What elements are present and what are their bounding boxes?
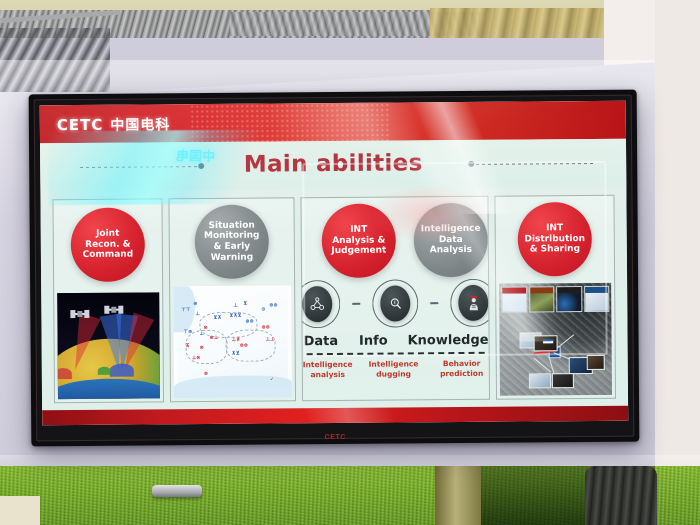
panel-joint-recon[interactable]: Joint Recon. & Command <box>52 198 164 403</box>
panel-situation-monitoring[interactable]: Situation Monitoring & Early Warning ⊤⊤ … <box>168 197 296 402</box>
dashboard-card-3 <box>556 286 582 312</box>
circle-label-joint-recon: Joint Recon. & Command <box>71 207 146 282</box>
art-satellite-earth <box>57 292 160 399</box>
olive-post <box>435 466 481 525</box>
screen-content: CETC 中国电科 Main abilities Joint Recon. & … <box>40 101 628 426</box>
dashboard-card-4 <box>584 286 610 312</box>
dashboard-node-label: ▄▄▄▄ <box>542 339 554 343</box>
map-zone-2 <box>225 329 275 361</box>
title-dot-right <box>468 161 474 167</box>
panel-int-analysis[interactable]: INT Analysis & Judgement Intelligence Da… <box>300 196 490 401</box>
cetc-logo-cn: 中国电科 <box>110 114 170 134</box>
ocean-band <box>57 378 160 399</box>
flow-link-1 <box>352 303 360 305</box>
flow-labels: Data Info Knowledge <box>303 333 489 349</box>
flow-sub-knowledge: Behavior prediction <box>434 359 488 380</box>
dashboard-thumb-4 <box>587 355 605 370</box>
flow-label-data: Data <box>303 334 340 349</box>
flow-sublabels: Intelligence analysis Intelligence duggi… <box>303 359 489 381</box>
blue-coverage-dome <box>110 364 134 377</box>
tv-brand-logo: CETC <box>325 434 347 441</box>
circle-label-int-distribution: INT Distribution & Sharing <box>517 202 592 277</box>
flow-nodes <box>302 277 488 330</box>
dashboard-thumb-5 <box>529 373 551 388</box>
presentation-slide: CETC 中国电科 Main abilities Joint Recon. & … <box>40 101 628 426</box>
cetc-logo-en: CETC <box>57 116 104 134</box>
dashboard-thumbnail-row <box>501 286 609 313</box>
circle-label-int-analysis: INT Analysis & Judgement <box>321 204 396 279</box>
flow-arc-right-2 <box>372 279 418 327</box>
circle-label-intelligence-data-analysis: Intelligence Data Analysis <box>413 203 488 278</box>
flow-sub-data: Intelligence analysis <box>303 360 353 381</box>
data-info-knowledge-flow: Data Info Knowledge Intelligence analysi… <box>302 277 489 396</box>
silver-object-on-floor <box>152 485 202 497</box>
vehicle-tire <box>585 466 657 525</box>
dashboard-card-1 <box>501 286 527 312</box>
flow-arc-right-1 <box>300 280 340 328</box>
satellite-icon-1 <box>71 313 88 315</box>
green-unit-marker <box>98 367 111 375</box>
flow-arc-right-3 <box>450 279 490 327</box>
cetc-logo: CETC 中国电科 <box>57 114 171 135</box>
red-coverage-dome <box>57 368 72 379</box>
art-intelligence-dashboard: ▄▄▄▄ <box>499 283 612 396</box>
panel-int-distribution[interactable]: INT Distribution & Sharing <box>494 195 616 400</box>
satellite-icon-2 <box>105 309 122 311</box>
map-sea-bottom <box>174 375 292 398</box>
dashboard-card-2 <box>529 286 555 312</box>
flow-sub-info: Intelligence dugging <box>369 359 419 380</box>
display-screen-unit[interactable]: CETC CETC 中国电科 Main abilities <box>29 90 640 447</box>
flow-divider <box>307 352 485 355</box>
art-tactical-map: ⊤⊤ ⊕ ⊥ ⊤⊕ ⊥ ⊻⊼ ⊻⊼⊻ ⊕⊗ ⊥ ⊻ ⊗⊗ ⊙ ⊗ ⊕⊥ <box>173 285 292 398</box>
flow-link-2 <box>430 302 438 304</box>
floor-trim-left <box>0 496 40 525</box>
flow-label-info: Info <box>355 334 392 349</box>
right-white-wall <box>655 0 700 525</box>
flow-label-knowledge: Knowledge <box>408 333 489 349</box>
dashboard-thumb-6 <box>551 373 573 388</box>
ability-panels: Joint Recon. & Command <box>52 195 616 403</box>
circle-label-situation-monitoring: Situation Monitoring & Early Warning <box>195 205 270 280</box>
